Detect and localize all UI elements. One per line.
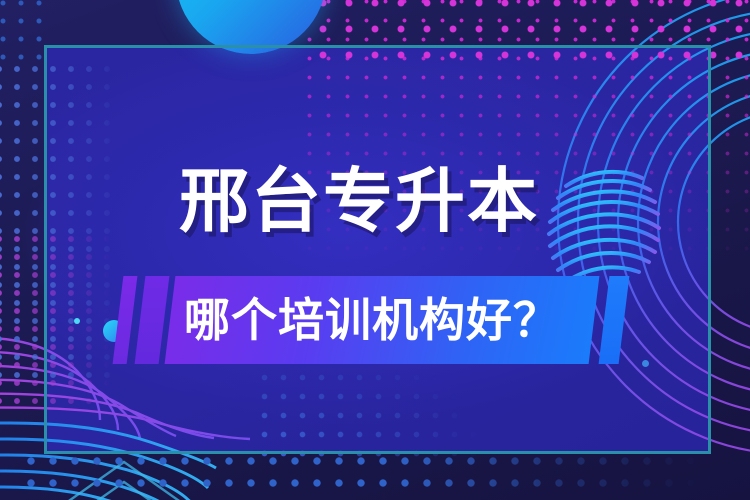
banner-slash-left-outer bbox=[113, 276, 138, 364]
subtitle-text: 哪个培训机构好？ bbox=[184, 290, 604, 350]
banner-slash-left-inner bbox=[135, 276, 170, 364]
page-title: 邢台专升本 bbox=[179, 166, 539, 236]
small-cyan-dot-accent bbox=[74, 318, 80, 324]
subtitle-banner: 哪个培训机构好？ bbox=[112, 276, 632, 364]
decorative-frame bbox=[44, 45, 711, 454]
promo-banner: 邢台专升本 哪个培训机构好？ bbox=[0, 0, 750, 500]
small-blue-dot-accent bbox=[642, 360, 649, 367]
